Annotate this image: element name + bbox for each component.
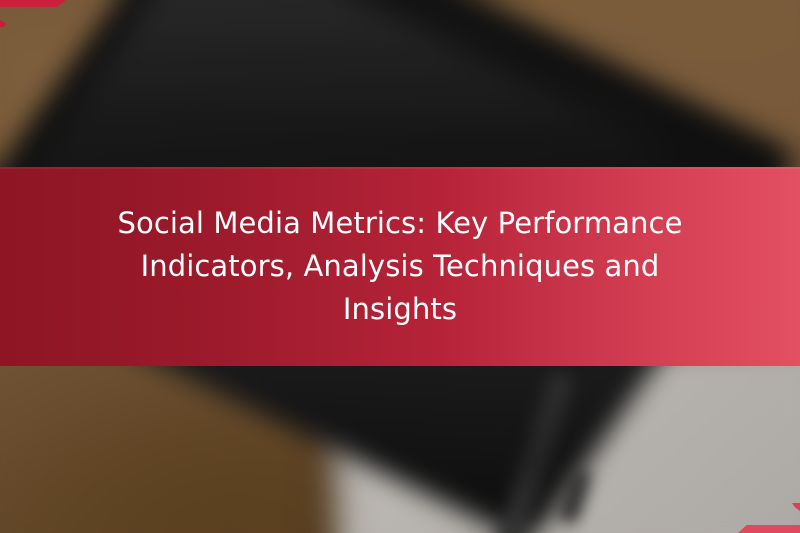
bottom-right-red-accent bbox=[738, 525, 800, 533]
hero-banner-canvas: Social Media Metrics: Key Performance In… bbox=[0, 0, 800, 533]
top-left-red-accent bbox=[0, 0, 66, 7]
page-title: Social Media Metrics: Key Performance In… bbox=[80, 202, 720, 331]
title-band: Social Media Metrics: Key Performance In… bbox=[0, 167, 800, 366]
